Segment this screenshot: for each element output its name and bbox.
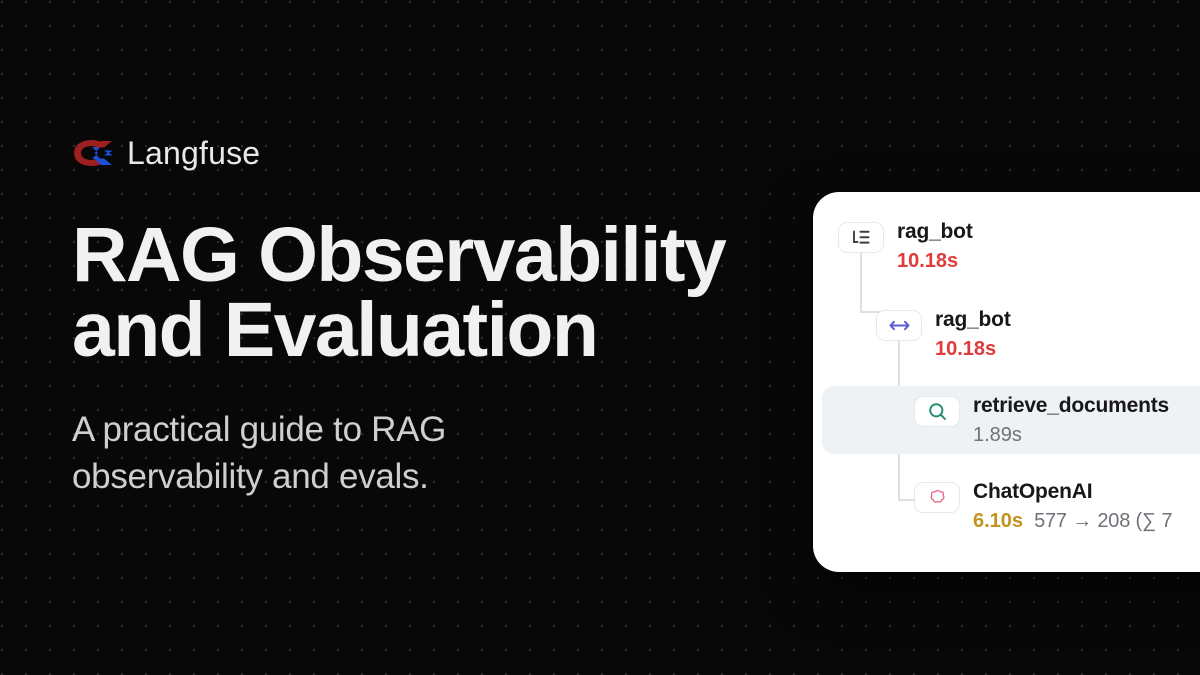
trace-node-label: ChatOpenAI	[973, 480, 1172, 505]
page-title: RAG Observability and Evaluation	[72, 218, 792, 367]
promo-banner: Langfuse RAG Observability and Evaluatio…	[0, 0, 1200, 675]
openai-icon	[914, 482, 960, 513]
trace-node-rag-bot-span[interactable]: rag_bot 10.18s	[876, 308, 1011, 361]
langfuse-logo-icon	[72, 138, 114, 168]
trace-node-duration: 10.18s	[935, 337, 996, 361]
trace-list-icon	[838, 222, 884, 253]
brand-lockup: Langfuse	[72, 130, 802, 176]
search-icon	[914, 396, 960, 427]
trace-tree-panel: rag_bot 10.18s rag_bot 10.18s	[813, 192, 1200, 572]
brand-name: Langfuse	[127, 137, 260, 169]
trace-node-retrieve-documents[interactable]: retrieve_documents 1.89s	[914, 394, 1169, 447]
trace-node-duration: 1.89s	[973, 423, 1022, 447]
trace-node-label: retrieve_documents	[973, 394, 1169, 419]
span-arrows-icon	[876, 310, 922, 341]
trace-node-duration: 6.10s	[973, 509, 1023, 533]
trace-node-label: rag_bot	[897, 220, 973, 245]
page-subtitle: A practical guide to RAG observability a…	[72, 407, 572, 500]
trace-node-duration: 10.18s	[897, 249, 958, 273]
trace-node-tokens: 577 → 208 (∑ 7	[1034, 509, 1172, 533]
trace-node-rag-bot-root[interactable]: rag_bot 10.18s	[838, 220, 973, 273]
trace-node-label: rag_bot	[935, 308, 1011, 333]
trace-node-chatopenai[interactable]: ChatOpenAI 6.10s 577 → 208 (∑ 7	[914, 480, 1172, 533]
hero-section: Langfuse RAG Observability and Evaluatio…	[72, 130, 802, 500]
